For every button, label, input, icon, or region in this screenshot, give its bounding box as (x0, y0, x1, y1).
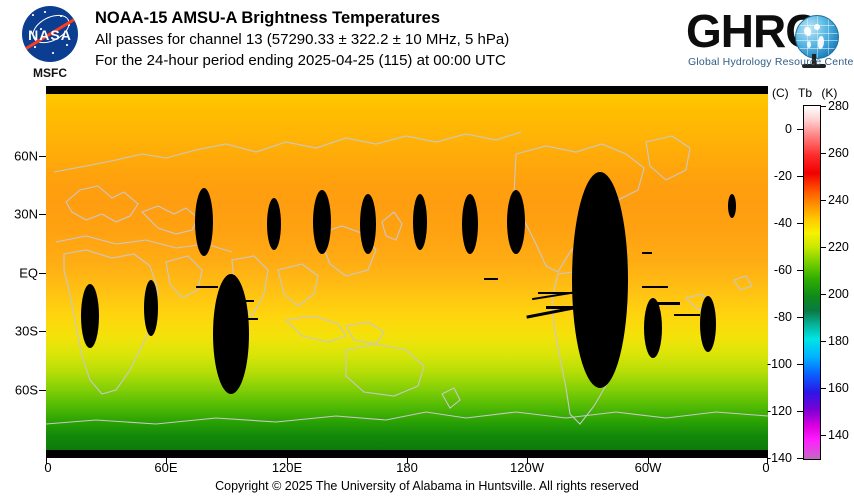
y-axis-label: 60S (8, 383, 38, 398)
colorbar-label-kelvin: 200 (828, 287, 849, 301)
y-tick (39, 214, 46, 215)
y-axis-label: EQ (8, 266, 38, 281)
colorbar-tick-celsius (797, 458, 803, 459)
x-axis-label: 120W (510, 460, 544, 475)
ghrc-tagline: Global Hydrology Resource Center (688, 56, 854, 68)
colorbar-tick-kelvin (820, 294, 826, 295)
colorbar-label-kelvin: 180 (828, 334, 849, 348)
y-tick (39, 390, 46, 391)
colorbar-unit-celsius: (C) (772, 86, 789, 100)
colorbar-label-celsius: -120 (767, 404, 792, 418)
colorbar-tick-kelvin (820, 153, 826, 154)
colorbar: (C) Tb (K) 280 260 240 220 200 180 160 1… (772, 86, 854, 476)
globe-icon (795, 15, 839, 59)
colorbar-label-celsius: -80 (774, 310, 792, 324)
y-tick (39, 273, 46, 274)
colorbar-tick-celsius (797, 176, 803, 177)
colorbar-tick-celsius (797, 270, 803, 271)
colorbar-label-kelvin: 160 (828, 381, 849, 395)
colorbar-tick-celsius (797, 411, 803, 412)
copyright-notice: Copyright © 2025 The University of Alaba… (0, 479, 854, 493)
ghrc-logo: GHRC Global Hydrology Resource Center (686, 4, 846, 76)
colorbar-label-celsius: -60 (774, 263, 792, 277)
colorbar-tick-celsius (797, 223, 803, 224)
colorbar-tick-kelvin (820, 200, 826, 201)
colorbar-tick-kelvin (820, 388, 826, 389)
colorbar-label-celsius: -140 (767, 451, 792, 465)
colorbar-label-kelvin: 240 (828, 193, 849, 207)
colorbar-label-kelvin: 280 (828, 99, 849, 113)
brightness-temperature-map (46, 94, 768, 450)
y-tick (39, 331, 46, 332)
colorbar-tick-kelvin (820, 435, 826, 436)
colorbar-label-kelvin: 140 (828, 428, 849, 442)
colorbar-label-celsius: 0 (785, 122, 792, 136)
nasa-center-label: MSFC (14, 66, 86, 80)
colorbar-tick-kelvin (820, 341, 826, 342)
subtitle-channel: All passes for channel 13 (57290.33 ± 32… (95, 29, 509, 50)
x-axis-label: 120E (272, 460, 302, 475)
y-axis-label: 30S (8, 324, 38, 339)
map-plot (46, 86, 768, 458)
colorbar-tick-celsius (797, 129, 803, 130)
colorbar-tick-kelvin (820, 106, 826, 107)
subtitle-period: For the 24-hour period ending 2025-04-25… (95, 50, 509, 71)
x-axis-label: 60E (154, 460, 177, 475)
x-axis-label: 0 (44, 460, 51, 475)
colorbar-label-kelvin: 260 (828, 146, 849, 160)
y-axis-label: 60N (8, 149, 38, 164)
colorbar-label-celsius: -40 (774, 216, 792, 230)
colorbar-label-celsius: -100 (767, 357, 792, 371)
colorbar-gradient (803, 105, 821, 460)
colorbar-header: (C) Tb (K) (772, 86, 854, 100)
x-axis-label: 60W (635, 460, 662, 475)
nasa-logo: NASA MSFC (14, 6, 86, 82)
swath-data-gaps (46, 94, 768, 450)
title-block: NOAA-15 AMSU-A Brightness Temperatures A… (95, 8, 509, 71)
x-axis-label: 180 (396, 460, 418, 475)
colorbar-variable: Tb (798, 86, 812, 100)
colorbar-tick-celsius (797, 364, 803, 365)
page-title: NOAA-15 AMSU-A Brightness Temperatures (95, 8, 509, 29)
y-axis-label: 30N (8, 207, 38, 222)
colorbar-tick-celsius (797, 317, 803, 318)
colorbar-unit-kelvin: (K) (821, 86, 837, 100)
y-tick (39, 156, 46, 157)
colorbar-tick-kelvin (820, 247, 826, 248)
colorbar-label-celsius: -20 (774, 169, 792, 183)
nasa-wordmark: NASA (14, 27, 86, 43)
colorbar-label-kelvin: 220 (828, 240, 849, 254)
